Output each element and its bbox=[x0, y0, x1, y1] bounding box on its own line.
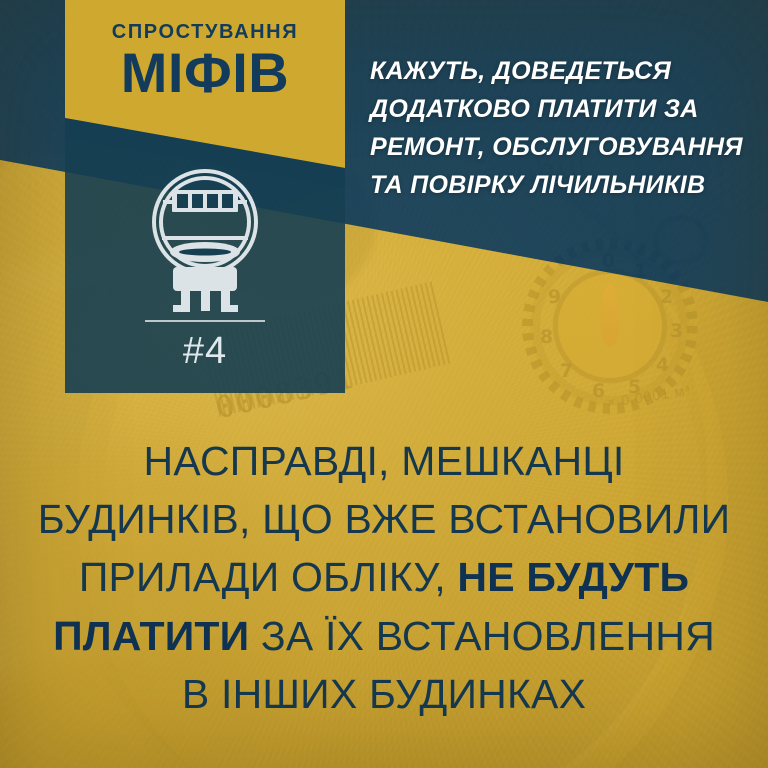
electricity-meter-icon bbox=[143, 166, 267, 316]
claim-line: РЕМОНТ, ОБСЛУГОВУВАННЯ bbox=[370, 128, 762, 166]
myth-busting-infographic: Tauhut В-А 0008391 0 1 2 3 4 5 6 7 8 9 ×… bbox=[0, 0, 768, 768]
rebuttal-line-3: ПРИЛАДИ ОБЛІКУ, НЕ БУДУТЬ bbox=[0, 548, 768, 606]
rebuttal-line-2: БУДИНКІВ, ЩО ВЖЕ ВСТАНОВИЛИ bbox=[0, 490, 768, 548]
rebuttal-text: НАСПРАВДІ, МЕШКАНЦІ БУДИНКІВ, ЩО ВЖЕ ВСТ… bbox=[0, 432, 768, 723]
myth-number: #4 bbox=[65, 330, 345, 373]
rebuttal-line-4: ПЛАТИТИ ЗА ЇХ ВСТАНОВЛЕННЯ bbox=[0, 607, 768, 665]
claim-line: ДОДАТКОВО ПЛАТИТИ ЗА bbox=[370, 90, 762, 128]
icon-divider bbox=[145, 320, 265, 322]
header-title: МІФІВ bbox=[65, 44, 345, 101]
myth-header-inner: СПРОСТУВАННЯ МІФІВ bbox=[65, 0, 345, 101]
meter-icon-wrap bbox=[65, 166, 345, 316]
rebuttal-line-3-emphasis: НЕ БУДУТЬ bbox=[457, 554, 689, 600]
rebuttal-line-3-normal: ПРИЛАДИ ОБЛІКУ, bbox=[79, 554, 458, 600]
rebuttal-line-4-emphasis: ПЛАТИТИ bbox=[53, 613, 249, 659]
rebuttal-line-5: В ІНШИХ БУДИНКАХ bbox=[0, 665, 768, 723]
rebuttal-line-1: НАСПРАВДІ, МЕШКАНЦІ bbox=[0, 432, 768, 490]
claim-line: ТА ПОВІРКУ ЛІЧИЛЬНИКІВ bbox=[370, 166, 762, 204]
myth-claim-text: КАЖУТЬ, ДОВЕДЕТЬСЯ ДОДАТКОВО ПЛАТИТИ ЗА … bbox=[370, 52, 762, 204]
claim-line: КАЖУТЬ, ДОВЕДЕТЬСЯ bbox=[370, 52, 762, 90]
rebuttal-line-4-normal: ЗА ЇХ ВСТАНОВЛЕННЯ bbox=[249, 613, 715, 659]
header-kicker: СПРОСТУВАННЯ bbox=[65, 22, 345, 42]
